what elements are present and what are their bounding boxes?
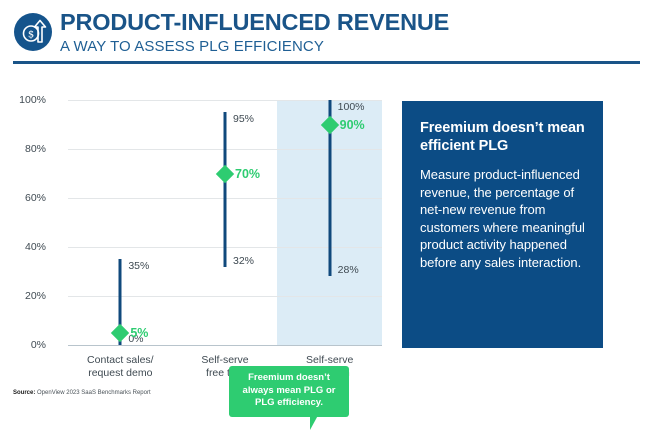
dollar-growth-arrow-icon: $ <box>13 12 53 52</box>
x-axis-category-label: Contact sales/request demo <box>87 354 154 380</box>
range-bar <box>224 112 227 266</box>
plot-area: 0%20%40%60%80%100%35%0%5%95%32%70%100%28… <box>68 100 382 345</box>
header-divider <box>13 61 640 64</box>
header-text-group: PRODUCT-INFLUENCED REVENUE A WAY TO ASSE… <box>60 9 449 57</box>
insight-panel-heading: Freemium doesn’t mean efficient PLG <box>420 119 586 155</box>
insight-panel-body: Measure product-influenced revenue, the … <box>420 166 586 271</box>
range-high-label: 100% <box>338 101 365 113</box>
median-value-label: 70% <box>235 167 260 181</box>
source-label: Source: <box>13 390 35 396</box>
x-axis-label-line: request demo <box>87 367 154 380</box>
x-axis-label-line: Contact sales/ <box>87 354 154 367</box>
page-title: PRODUCT-INFLUENCED REVENUE <box>60 9 449 36</box>
range-low-label: 28% <box>338 264 359 276</box>
range-low-label: 32% <box>233 255 254 267</box>
source-note: Source: OpenView 2023 SaaS Benchmarks Re… <box>13 390 151 396</box>
source-text: OpenView 2023 SaaS Benchmarks Report <box>37 390 151 396</box>
y-axis-tick-label: 0% <box>31 339 46 351</box>
y-axis-tick-label: 40% <box>25 241 46 253</box>
range-high-label: 95% <box>233 113 254 125</box>
median-marker <box>216 164 234 182</box>
page-subtitle: A WAY TO ASSESS PLG EFFICIENCY <box>60 37 449 57</box>
median-value-label: 90% <box>340 118 365 132</box>
y-axis-tick-label: 20% <box>25 290 46 302</box>
gridline <box>68 345 382 346</box>
chart-callout: Freemium doesn’t always mean PLG or PLG … <box>229 366 349 417</box>
median-marker <box>111 324 129 342</box>
range-chart: 0%20%40%60%80%100%35%0%5%95%32%70%100%28… <box>0 78 400 383</box>
y-axis-tick-label: 100% <box>19 94 46 106</box>
range-high-label: 35% <box>128 260 149 272</box>
chart-callout-text: Freemium doesn’t always mean PLG or PLG … <box>243 372 336 408</box>
gridline <box>68 296 382 297</box>
y-axis-tick-label: 60% <box>25 192 46 204</box>
insight-panel: Freemium doesn’t mean efficient PLG Meas… <box>402 101 603 348</box>
gridline <box>68 100 382 101</box>
median-value-label: 5% <box>130 326 148 340</box>
svg-text:$: $ <box>28 29 34 40</box>
page-header: $ PRODUCT-INFLUENCED REVENUE A WAY TO AS… <box>0 0 650 62</box>
y-axis-tick-label: 80% <box>25 143 46 155</box>
